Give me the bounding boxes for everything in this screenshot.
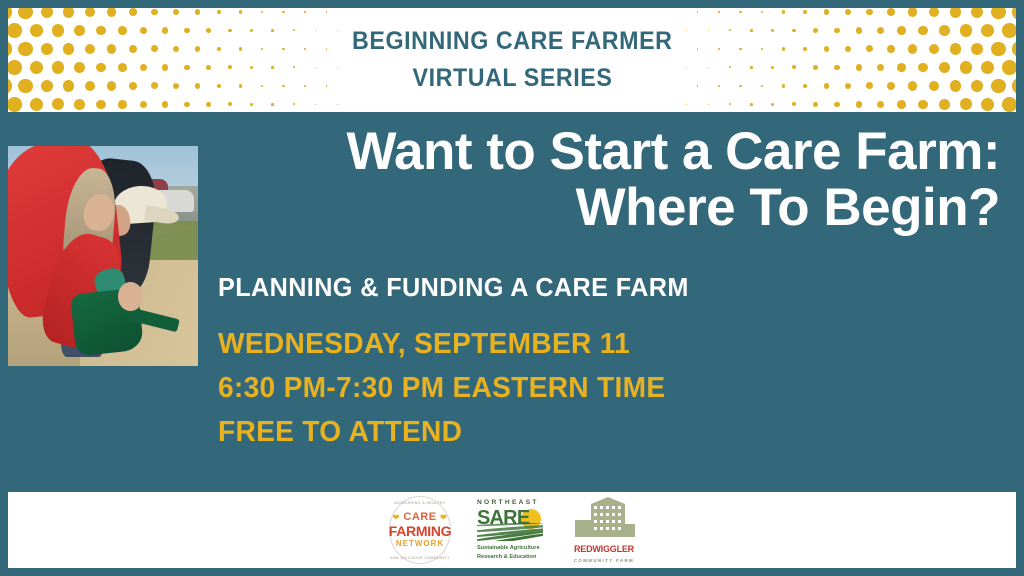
rw-window <box>612 506 615 510</box>
heart-icon: ❤ <box>393 513 400 522</box>
heart-icon: ❤ <box>440 513 447 522</box>
rw-window <box>618 513 621 517</box>
farm-building-icon <box>573 497 635 537</box>
cfn-word-farming: FARMING <box>389 524 451 538</box>
rw-window <box>594 506 597 510</box>
sponsor-logo-bar: NOURISHING A HEALTHY ❤ CARE ❤ FARMING NE… <box>8 492 1016 568</box>
event-details: WEDNESDAY, SEPTEMBER 11 6:30 PM-7:30 PM … <box>218 322 679 454</box>
rw-building-wing-left <box>575 520 591 537</box>
cfn-wordmark: ❤ CARE ❤ FARMING NETWORK <box>389 512 451 548</box>
cfn-arc-top-text: NOURISHING A HEALTHY <box>385 501 455 505</box>
rw-window <box>612 520 615 524</box>
rw-window <box>606 513 609 517</box>
rw-building-roof <box>591 497 625 504</box>
rw-tagline: COMMUNITY FARM <box>574 558 634 563</box>
rw-window <box>618 506 621 510</box>
event-flyer: BEGINNING CARE FARMER VIRTUAL SERIES Wan… <box>0 0 1024 576</box>
event-photo <box>8 146 198 366</box>
event-time: 6:30 PM-7:30 PM EASTERN TIME <box>218 366 665 410</box>
rw-window <box>600 506 603 510</box>
rw-window <box>594 520 597 524</box>
main-title-line-2: Where To Begin? <box>218 180 1000 236</box>
rw-window <box>600 513 603 517</box>
page-title: Want to Start a Care Farm: Where To Begi… <box>218 124 1000 236</box>
header-band: BEGINNING CARE FARMER VIRTUAL SERIES <box>8 8 1016 112</box>
halftone-dots-left-icon <box>8 8 478 112</box>
sare-tagline-line-1: Sustainable Agriculture <box>477 544 543 552</box>
main-title: Want to Start a Care Farm: Where To Begi… <box>218 124 1000 236</box>
event-date: WEDNESDAY, SEPTEMBER 11 <box>218 322 665 366</box>
logo-care-farming-network[interactable]: NOURISHING A HEALTHY ❤ CARE ❤ FARMING NE… <box>385 495 455 565</box>
rw-window <box>612 527 615 531</box>
rw-window <box>606 527 609 531</box>
cfn-word-network: NETWORK <box>389 540 451 548</box>
sare-wordmark: SARE <box>477 507 529 530</box>
logo-northeast-sare[interactable]: NORTHEAST SARE Sustainable Agriculture R… <box>477 495 543 565</box>
cfn-word-care: ❤ CARE ❤ <box>389 512 451 523</box>
cfn-care-label: CARE <box>403 511 436 523</box>
event-price: FREE TO ATTEND <box>218 410 665 454</box>
sare-eyebrow: NORTHEAST <box>477 499 543 506</box>
main-title-line-1: Want to Start a Care Farm: <box>218 124 1000 180</box>
halftone-dots-right-icon <box>546 8 1016 112</box>
rw-window <box>612 513 615 517</box>
sare-tagline: Sustainable Agriculture Research & Educa… <box>477 544 543 560</box>
rw-window <box>618 520 621 524</box>
cfn-arc-bottom-text: AND INCLUSIVE COMMUNITY <box>385 556 455 560</box>
rw-word-red: RED <box>574 544 592 554</box>
rw-window <box>594 527 597 531</box>
photo-hand <box>118 282 143 311</box>
session-subtitle: PLANNING & FUNDING A CARE FARM <box>218 272 689 303</box>
rw-window <box>600 520 603 524</box>
sare-emblem: SARE <box>477 507 543 541</box>
rw-wordmark: REDWIGGLER <box>574 540 634 556</box>
logo-red-wiggler[interactable]: REDWIGGLER COMMUNITY FARM <box>565 495 643 565</box>
rw-window <box>594 513 597 517</box>
sare-tagline-line-2: Research & Education <box>477 553 543 561</box>
rw-window <box>618 527 621 531</box>
rw-window <box>600 527 603 531</box>
rw-word-wiggler: WIGGLER <box>592 544 634 554</box>
rw-window <box>606 520 609 524</box>
rw-window <box>606 506 609 510</box>
